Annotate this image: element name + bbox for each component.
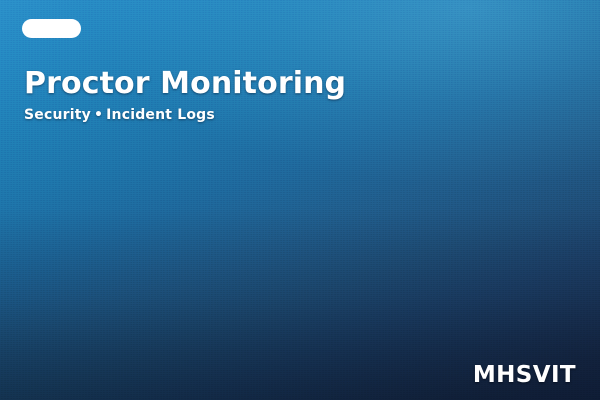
title-slide: Proctor Monitoring Security•Incident Log… <box>0 0 600 400</box>
background-grain-texture <box>0 0 600 400</box>
subtitle-primary: Security <box>24 107 91 123</box>
subtitle-separator-bullet-icon: • <box>91 107 106 123</box>
page-subtitle: Security•Incident Logs <box>24 106 215 124</box>
accent-pill <box>22 19 81 38</box>
background-vignette <box>0 0 600 400</box>
subtitle-secondary: Incident Logs <box>106 107 215 123</box>
background-glow <box>0 0 600 400</box>
page-title: Proctor Monitoring <box>24 66 346 102</box>
brand-watermark: MHSVIT <box>473 362 576 388</box>
